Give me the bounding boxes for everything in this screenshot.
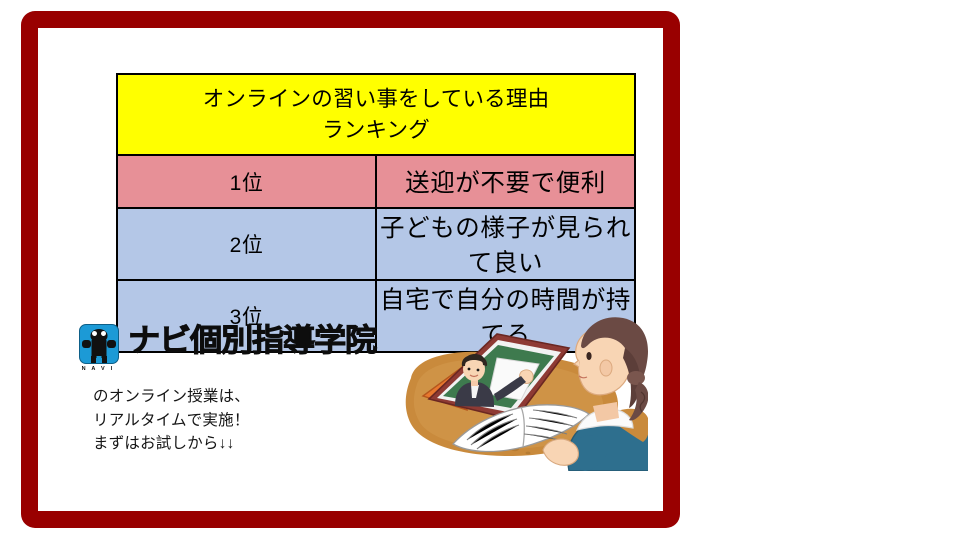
girl-hand-shape [543, 439, 578, 465]
logo-navi-romaji: N A V I [79, 366, 117, 372]
table-title-line1: オンラインの習い事をしている理由 [203, 87, 550, 111]
slide-border-frame: オンラインの習い事をしている理由 ランキング 1位 送迎が不要で便利 2位 子ど… [21, 11, 680, 528]
figure-arm-left-shape [82, 340, 91, 348]
table-row: 1位 送迎が不要で便利 [117, 155, 635, 208]
logo-wordmark: ナビ個別指導学院 [128, 324, 376, 357]
caption-line-3: まずはお試しから↓↓ [93, 432, 250, 456]
caption-line-1: のオンライン授業は、 [93, 385, 250, 409]
figure-arm-right-shape [107, 340, 116, 348]
caption-line-2: リアルタイムで実施！ [93, 409, 250, 433]
rank-label-1: 1位 [117, 155, 376, 208]
online-lesson-illustration [393, 306, 648, 471]
figure-body-shape [92, 338, 107, 358]
logo-mark-wrapper: N A V I [79, 324, 119, 372]
figure-leg-right-shape [102, 356, 107, 363]
table-title-cell: オンラインの習い事をしている理由 ランキング [117, 74, 635, 155]
girl-ear-shape [600, 360, 612, 376]
reason-text-2: 子どもの様子が見られて良い [376, 208, 635, 280]
table-title-line2: ランキング [118, 115, 634, 146]
table-row: 2位 子どもの様子が見られて良い [117, 208, 635, 280]
girl-eye-shape [586, 352, 591, 360]
caption-text: のオンライン授業は、 リアルタイムで実施！ まずはお試しから↓↓ [93, 385, 250, 456]
table-row-title: オンラインの習い事をしている理由 ランキング [117, 74, 635, 155]
desk-crumb-shape [526, 452, 531, 455]
slide-canvas: オンラインの習い事をしている理由 ランキング 1位 送迎が不要で便利 2位 子ど… [0, 0, 960, 540]
brand-logo: N A V I ナビ個別指導学院 [79, 324, 366, 372]
girl-hair-tie-shape [627, 371, 645, 385]
teacher-eye-left-shape [468, 368, 471, 371]
teacher-eye-right-shape [477, 369, 480, 372]
rank-label-2: 2位 [117, 208, 376, 280]
reason-text-1: 送迎が不要で便利 [376, 155, 635, 208]
figure-leg-left-shape [91, 356, 96, 363]
figure-leg-gap-shape [97, 356, 102, 363]
online-lesson-illustration-svg [393, 306, 648, 471]
navi-person-icon [79, 324, 119, 364]
